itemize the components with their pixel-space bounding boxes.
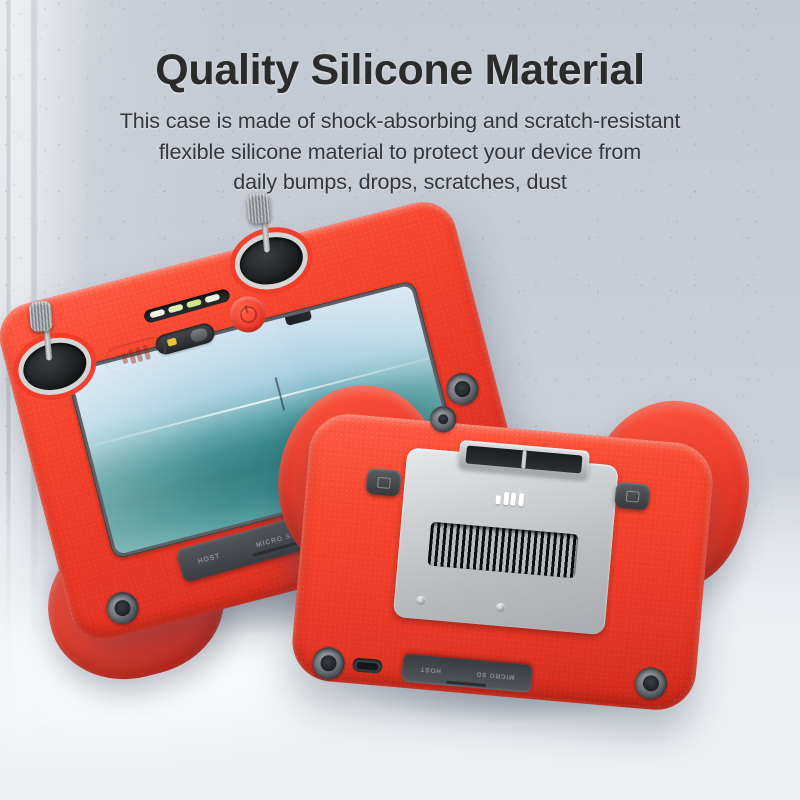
- page-title: Quality Silicone Material: [0, 46, 800, 94]
- logo-bar: [518, 493, 524, 506]
- port-label-microsd: MICRO SD: [475, 671, 514, 681]
- usb-c-port[interactable]: [352, 657, 383, 674]
- product-marketing-scene: Quality Silicone Material This case is m…: [0, 0, 800, 800]
- plate-screw-right: [496, 603, 506, 613]
- logo-bar: [510, 493, 516, 506]
- rear-view-controller: MICRO SD HOST: [289, 411, 716, 713]
- logo-bar: [495, 495, 501, 504]
- shoulder-button-left[interactable]: [365, 468, 401, 497]
- shoulder-button-glyph: [377, 476, 391, 488]
- power-icon: [238, 304, 259, 325]
- left-joystick-knob[interactable]: [29, 300, 53, 332]
- port-label-host: HOST: [197, 552, 221, 565]
- heatsink-plate: [393, 447, 619, 635]
- banner-copy: Quality Silicone Material This case is m…: [0, 46, 800, 198]
- port-label-host: HOST: [420, 666, 442, 675]
- logo-bar: [503, 492, 509, 505]
- subtitle-line-3: daily bumps, drops, scratches, dust: [0, 167, 800, 198]
- led-segment: [204, 293, 220, 303]
- logo-bar: [142, 344, 151, 360]
- logo-bar: [121, 352, 129, 364]
- banner-subtitle: This case is made of shock-absorbing and…: [0, 106, 800, 198]
- led-segment: [149, 309, 165, 319]
- shoulder-button-glyph: [625, 490, 639, 502]
- shoulder-button-right[interactable]: [614, 482, 650, 511]
- switch-indicator-dot: [167, 337, 178, 346]
- subtitle-line-1: This case is made of shock-absorbing and…: [0, 106, 800, 137]
- switch-slider-nub[interactable]: [189, 327, 209, 343]
- led-segment: [168, 304, 184, 314]
- plate-screw-left: [416, 596, 426, 606]
- port-cover-nub: [446, 681, 486, 687]
- led-segment: [186, 299, 202, 309]
- subtitle-line-2: flexible silicone material to protect yo…: [0, 137, 800, 168]
- dji-logo-icon: [495, 491, 524, 506]
- vent-grille: [427, 522, 578, 579]
